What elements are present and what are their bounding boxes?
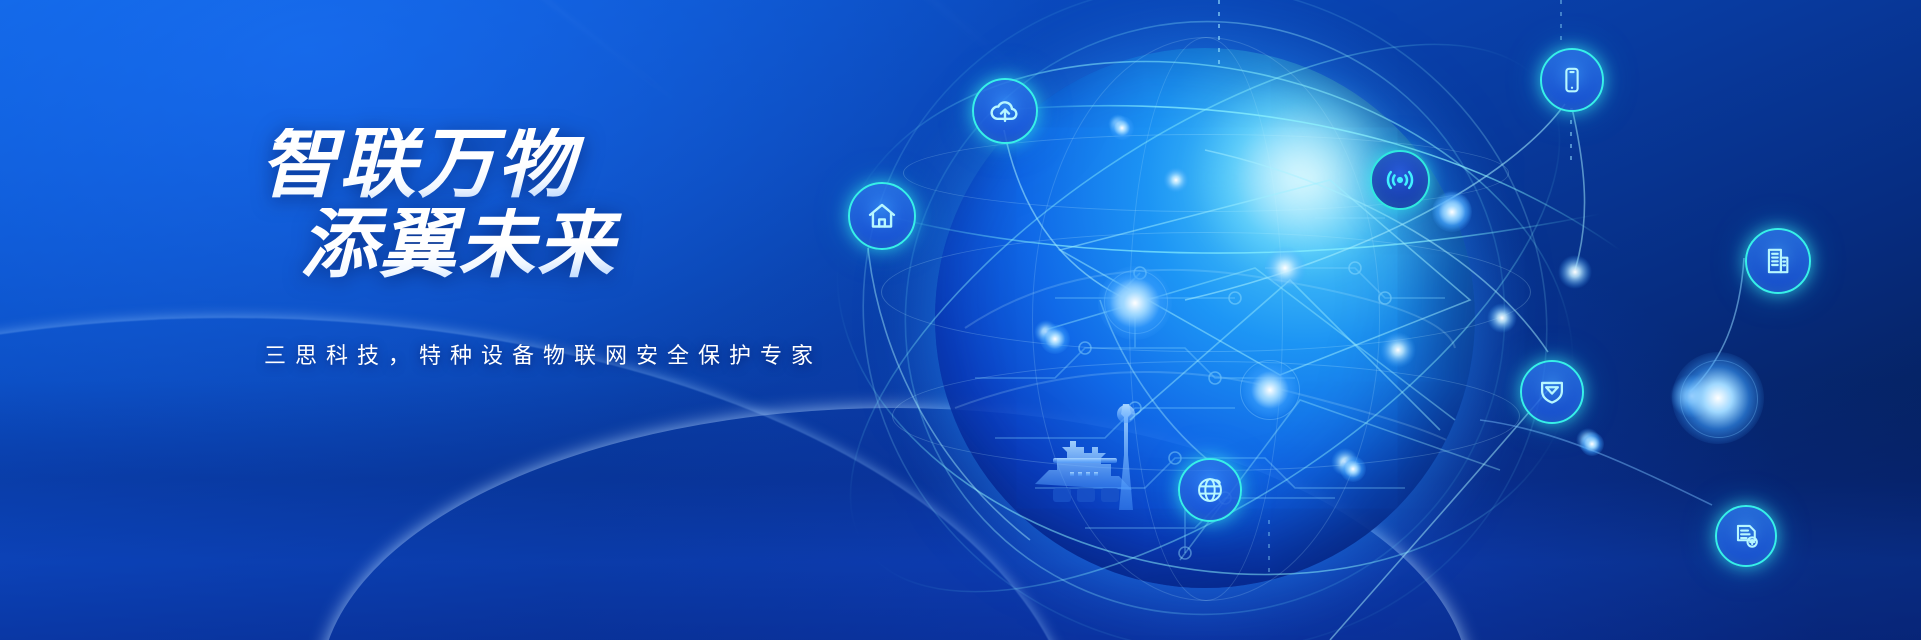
mobile-phone-icon[interactable] <box>1540 48 1604 112</box>
glow-dot <box>1580 432 1604 456</box>
hero-subtitle: 三思科技，特种设备物联网安全保护专家 <box>264 338 868 370</box>
background-sheen-streak <box>0 0 685 109</box>
document-gear-icon[interactable] <box>1715 505 1777 567</box>
background-sheen-streak <box>1165 0 1835 3</box>
shield-icon[interactable] <box>1520 360 1584 424</box>
cloud-upload-icon[interactable] <box>972 78 1038 144</box>
document-gear-glyph <box>1731 521 1762 552</box>
hero-banner: 智联万物 添翼未来 三思科技，特种设备物联网安全保护专家 <box>0 0 1921 640</box>
shield-glyph <box>1536 376 1568 408</box>
building-glyph <box>1762 245 1794 277</box>
wifi-signal-glyph <box>1384 164 1416 196</box>
dotted-beam <box>1560 0 1562 40</box>
hero-copy: 智联万物 添翼未来 三思科技，特种设备物联网安全保护专家 <box>248 128 868 370</box>
glow-dot <box>1672 352 1764 444</box>
home-glyph <box>865 199 899 233</box>
background-sheen-streak <box>276 0 1044 94</box>
cloud-upload-glyph <box>988 94 1022 128</box>
wifi-signal-icon[interactable] <box>1370 150 1430 210</box>
mobile-phone-glyph <box>1557 65 1587 95</box>
headline-line-2: 添翼未来 <box>300 208 868 282</box>
building-icon[interactable] <box>1745 228 1811 294</box>
headline-line-1: 智联万物 <box>260 128 868 202</box>
globe-network-icon[interactable] <box>1178 458 1242 522</box>
light-trail <box>0 347 970 640</box>
globe-network-glyph <box>1194 474 1226 506</box>
dotted-beam <box>1570 108 1572 164</box>
halo-ring <box>1680 360 1758 438</box>
